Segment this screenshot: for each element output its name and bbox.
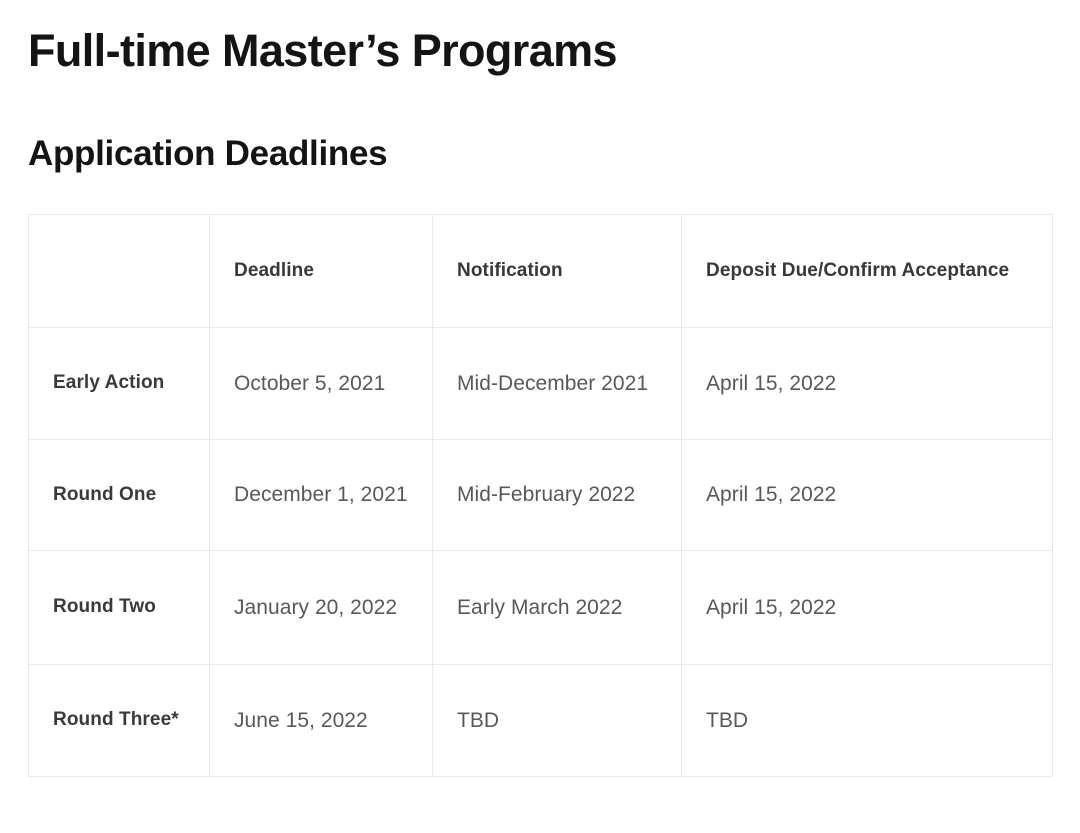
cell-deposit-early-action: April 15, 2022 — [682, 328, 1053, 440]
table-header: Deadline Notification Deposit Due/Confir… — [29, 215, 1053, 328]
column-header-deadline: Deadline — [210, 215, 433, 328]
page-container: Full-time Master’s Programs Application … — [0, 0, 1080, 833]
cell-deadline-round-two: January 20, 2022 — [210, 551, 433, 665]
cell-deadline-round-one: December 1, 2021 — [210, 440, 433, 551]
row-label-early-action: Early Action — [29, 328, 210, 440]
cell-notification-round-two: Early March 2022 — [433, 551, 682, 665]
table-row: Early Action October 5, 2021 Mid-Decembe… — [29, 328, 1053, 440]
table-row: Round Three* June 15, 2022 TBD TBD — [29, 665, 1053, 777]
cell-deposit-round-three: TBD — [682, 665, 1053, 777]
cell-deadline-early-action: October 5, 2021 — [210, 328, 433, 440]
cell-notification-early-action: Mid-December 2021 — [433, 328, 682, 440]
cell-notification-round-one: Mid-February 2022 — [433, 440, 682, 551]
table-body: Early Action October 5, 2021 Mid-Decembe… — [29, 328, 1053, 777]
cell-deadline-round-three: June 15, 2022 — [210, 665, 433, 777]
table-row: Round One December 1, 2021 Mid-February … — [29, 440, 1053, 551]
deadlines-table-wrapper: Deadline Notification Deposit Due/Confir… — [28, 214, 1052, 777]
cell-deposit-round-one: April 15, 2022 — [682, 440, 1053, 551]
cell-deposit-round-two: April 15, 2022 — [682, 551, 1053, 665]
table-row: Round Two January 20, 2022 Early March 2… — [29, 551, 1053, 665]
column-header-deposit-due-confirm-acceptance: Deposit Due/Confirm Acceptance — [682, 215, 1053, 328]
section-title-application-deadlines: Application Deadlines — [28, 77, 1052, 175]
page-title: Full-time Master’s Programs — [28, 0, 1052, 77]
table-header-row: Deadline Notification Deposit Due/Confir… — [29, 215, 1053, 328]
row-label-round-one: Round One — [29, 440, 210, 551]
column-header-round — [29, 215, 210, 328]
row-label-round-three: Round Three* — [29, 665, 210, 777]
column-header-notification: Notification — [433, 215, 682, 328]
row-label-round-two: Round Two — [29, 551, 210, 665]
application-deadlines-table: Deadline Notification Deposit Due/Confir… — [28, 214, 1053, 777]
cell-notification-round-three: TBD — [433, 665, 682, 777]
